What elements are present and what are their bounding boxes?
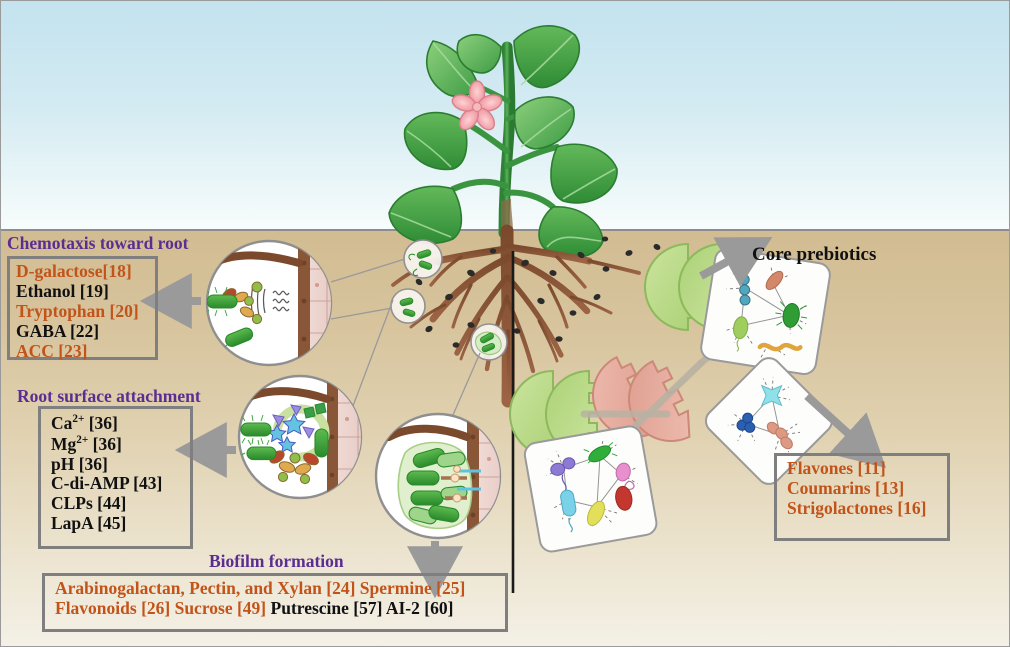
attachment-header: Root surface attachment: [17, 386, 201, 407]
attachment-item-5: LapA [45]: [51, 514, 190, 534]
biofilm-line-2: Flavonoids [26] Sucrose [49] Putrescine …: [55, 599, 505, 619]
root-bacteria-bubble-3: [471, 324, 507, 360]
root-bacteria-bubble-1: [404, 240, 442, 278]
microbe-network-card-bottom-left: [523, 425, 658, 554]
attachment-item-4: CLPs [44]: [51, 494, 190, 514]
exudates-item-0: Flavones [11]: [787, 459, 947, 479]
root-bacteria-bubble-2: [391, 289, 425, 323]
plant-illustration: [389, 26, 617, 258]
exudates-item-1: Coumarins [13]: [787, 479, 947, 499]
exudates-item-2: Strigolactones [16]: [787, 499, 947, 519]
chemotaxis-item-3: GABA [22]: [16, 322, 155, 342]
connector-lines: [331, 259, 480, 415]
biofilm-closeup: [376, 414, 521, 538]
biofilm-line-2-orange: Flavonoids [26] Sucrose [49]: [55, 598, 271, 618]
chemotaxis-header: Chemotaxis toward root: [7, 233, 188, 254]
attachment-closeup: [224, 376, 379, 498]
chemotaxis-item-0: D-galactose[18]: [16, 262, 155, 282]
chemotaxis-closeup: [192, 241, 348, 375]
attachment-item-1: Mg2+ [36]: [51, 434, 190, 455]
attachment-item-0: Ca2+ [36]: [51, 413, 190, 434]
biofilm-line-1-text: Arabinogalactan, Pectin, and Xylan [24] …: [55, 578, 465, 598]
chemotaxis-item-4: ACC [23]: [16, 342, 155, 362]
chemotaxis-item-2: Tryptophan [20]: [16, 302, 155, 322]
attachment-item-2: pH [36]: [51, 455, 190, 475]
biofilm-line-2-black: Putrescine [57] AI-2 [60]: [271, 598, 454, 618]
root-exudates-box: Flavones [11] Coumarins [13] Strigolacto…: [774, 453, 950, 541]
biofilm-header: Biofilm formation: [209, 551, 344, 572]
chemotaxis-item-1: Ethanol [19]: [16, 282, 155, 302]
biofilm-box: Arabinogalactan, Pectin, and Xylan [24] …: [42, 573, 508, 632]
core-prebiotics-header: Core prebiotics: [752, 244, 876, 266]
biofilm-line-1: Arabinogalactan, Pectin, and Xylan [24] …: [55, 579, 505, 599]
chemotaxis-box: D-galactose[18] Ethanol [19] Tryptophan …: [7, 256, 158, 360]
figure-canvas: Chemotaxis toward root D-galactose[18] E…: [0, 0, 1010, 647]
attachment-item-3: C-di-AMP [43]: [51, 474, 190, 494]
attachment-box: Ca2+ [36] Mg2+ [36] pH [36] C-di-AMP [43…: [38, 406, 193, 549]
